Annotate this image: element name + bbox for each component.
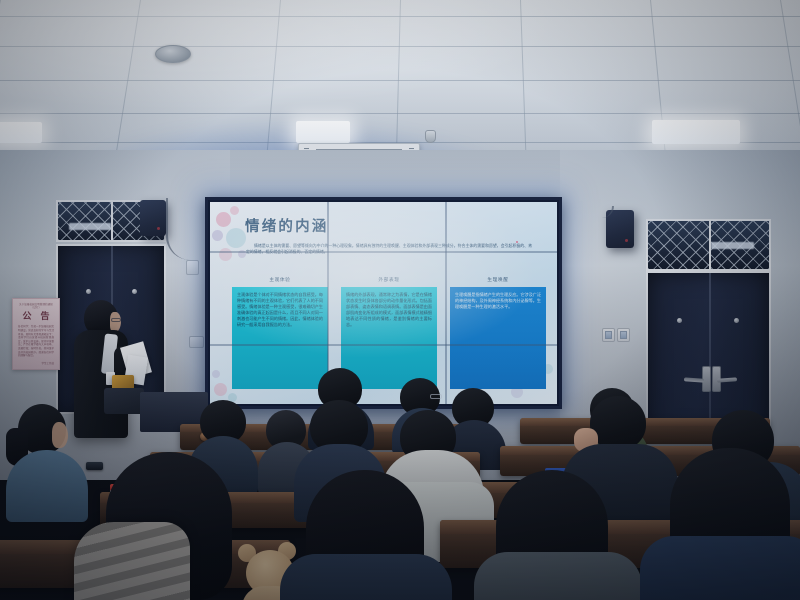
slide-title: 情绪的内涵 (245, 215, 329, 236)
presentation-slide: 情绪的内涵 情绪是以主体的需要、愿望等倾向为中介的一种心理现象。情绪具有独特的生… (210, 202, 557, 404)
smartphone-on-bench[interactable] (86, 462, 103, 470)
bezel-seam-h1 (210, 251, 557, 253)
slide-columns: 主观体验 主观体验是个体对不同情绪状态的自我感受。每种情绪有不同的主观体验，它们… (232, 277, 546, 389)
slide-column-subjective: 主观体验 主观体验是个体对不同情绪状态的自我感受。每种情绪有不同的主观体验，它们… (232, 277, 328, 389)
bubble-decor-top-left (210, 202, 280, 282)
equipment-box (104, 388, 144, 414)
slide-paragraph: 情绪是以主体的需要、愿望等倾向为中介的一种心理现象。情绪具有独特的生理唤醒、主观… (246, 243, 532, 255)
panel-light-left (0, 122, 42, 143)
lecture-hall-photo: 关于加强校园文明管理的通知（试行） 公 告 各位同学：为进一步加强校园文明建设，… (0, 0, 800, 600)
slide-column-external: 外部表现 情绪的外部表现，通常称之为表情，它是在情绪状态发生时身体各部分的动作量… (341, 277, 437, 389)
column-header-physiological: 生理唤醒 (487, 277, 508, 283)
panel-light-center (296, 121, 350, 143)
smoke-detector-icon (425, 130, 436, 143)
panel-light-right (652, 120, 740, 144)
ceiling-speaker-icon (155, 45, 191, 63)
column-body-subjective: 主观体验是个体对不同情绪状态的自我感受。每种情绪有不同的主观体验，它们代表了人的… (232, 287, 328, 389)
bezel-seam-h2 (210, 344, 557, 346)
screen-pixel-dot (516, 241, 518, 243)
glasses-icon (430, 394, 442, 399)
slide-column-physiological: 生理唤醒 生理唤醒是指情绪产生的生理反应。它涉及广泛的神经结构，及外周神经系统和… (450, 277, 546, 389)
glasses-icon (111, 318, 121, 322)
column-header-external: 外部表现 (378, 277, 399, 283)
puffer-jacket (74, 522, 190, 600)
bezel-seam-v2 (445, 202, 447, 404)
column-body-physiological: 生理唤醒是指情绪产生的生理反应。它涉及广泛的神经结构，及外周神经系统和内分泌腺等… (450, 287, 546, 389)
column-header-subjective: 主观体验 (269, 277, 290, 283)
standing-presenter (70, 300, 132, 440)
video-wall-display[interactable]: 情绪的内涵 情绪是以主体的需要、愿望等倾向为中介的一种心理现象。情绪具有独特的生… (205, 197, 562, 409)
